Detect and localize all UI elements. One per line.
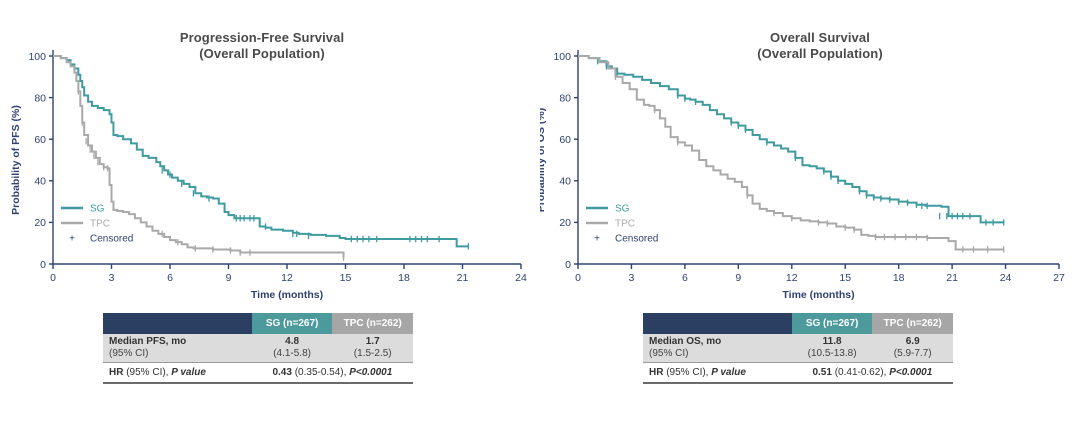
pfs-hr-value-italic: P<0.0001 — [349, 367, 392, 378]
os-median-label-main: Median OS, mo — [649, 336, 786, 348]
pfs-median-label-sub: (95% CI) — [109, 348, 246, 360]
svg-text:27: 27 — [1053, 272, 1065, 284]
os-median-label-sub: (95% CI) — [649, 348, 786, 360]
svg-text:Probability of OS (%): Probability of OS (%) — [540, 108, 547, 212]
os-median-tpc-main: 6.9 — [878, 336, 947, 348]
os-median-tpc: 6.9 (5.9-7.7) — [872, 334, 953, 363]
pfs-median-tpc-ci: (1.5-2.5) — [338, 348, 407, 360]
pfs-header-tpc: TPC (n=262) — [332, 313, 413, 334]
table-header-row: SG (n=267) TPC (n=262) — [103, 313, 413, 334]
pfs-hr-label-bold: HR — [109, 367, 123, 378]
pfs-median-label: Median PFS, mo (95% CI) — [103, 334, 252, 363]
svg-text:9: 9 — [735, 272, 741, 284]
svg-text:TPC: TPC — [615, 219, 635, 230]
svg-text:0: 0 — [565, 259, 571, 271]
svg-text:3: 3 — [109, 272, 115, 284]
svg-text:60: 60 — [34, 134, 46, 146]
pfs-median-label-main: Median PFS, mo — [109, 336, 246, 348]
svg-text:40: 40 — [559, 176, 571, 188]
os-hr-label-bold: HR — [649, 367, 663, 378]
table-header-row: SG (n=267) TPC (n=262) — [643, 313, 953, 334]
os-hr-value-italic: P<0.0001 — [889, 367, 932, 378]
svg-text:15: 15 — [839, 272, 851, 284]
pfs-plot-area: 02040608010003691215182124Time (months)P… — [0, 0, 540, 300]
svg-text:20: 20 — [34, 217, 46, 229]
svg-text:+: + — [69, 234, 75, 245]
os-hr-value: 0.51 (0.41-0.62), P<0.0001 — [792, 363, 953, 384]
svg-text:6: 6 — [167, 272, 173, 284]
pfs-header-sg: SG (n=267) — [252, 313, 333, 334]
os-hr-value-plain: (0.41-0.62), — [832, 367, 889, 378]
svg-text:18: 18 — [893, 272, 905, 284]
svg-text:24: 24 — [1000, 272, 1012, 284]
pfs-median-sg-ci: (4.1-5.8) — [258, 348, 327, 360]
svg-text:80: 80 — [559, 92, 571, 104]
pfs-hr-value-bold: 0.43 — [272, 367, 291, 378]
svg-text:+: + — [594, 234, 600, 245]
svg-text:6: 6 — [682, 272, 688, 284]
pfs-hr-label: HR (95% CI), P value — [103, 363, 252, 384]
pfs-median-tpc-main: 1.7 — [338, 336, 407, 348]
os-plot-area: 0204060801000369121518212427Time (months… — [540, 0, 1080, 300]
svg-text:24: 24 — [515, 272, 527, 284]
os-hr-label-italic: P value — [711, 367, 746, 378]
svg-text:15: 15 — [340, 272, 352, 284]
pfs-km-plot: 02040608010003691215182124Time (months)P… — [0, 0, 540, 300]
table-row: Median OS, mo (95% CI) 11.8 (10.5-13.8) … — [643, 334, 953, 363]
table-row: Median PFS, mo (95% CI) 4.8 (4.1-5.8) 1.… — [103, 334, 413, 363]
svg-text:100: 100 — [553, 51, 571, 63]
table-row: HR (95% CI), P value 0.43 (0.35-0.54), P… — [103, 363, 413, 384]
pfs-header-blank — [103, 313, 252, 334]
svg-text:SG: SG — [90, 204, 105, 215]
svg-text:21: 21 — [946, 272, 958, 284]
svg-text:12: 12 — [281, 272, 293, 284]
svg-text:Censored: Censored — [90, 234, 133, 245]
svg-text:3: 3 — [629, 272, 635, 284]
svg-text:TPC: TPC — [90, 219, 110, 230]
os-median-tpc-ci: (5.9-7.7) — [878, 348, 947, 360]
os-median-label: Median OS, mo (95% CI) — [643, 334, 792, 363]
os-median-sg-ci: (10.5-13.8) — [798, 348, 867, 360]
os-hr-label: HR (95% CI), P value — [643, 363, 792, 384]
os-stat-table: SG (n=267) TPC (n=262) Median OS, mo (95… — [643, 313, 953, 384]
svg-text:60: 60 — [559, 134, 571, 146]
pfs-hr-value: 0.43 (0.35-0.54), P<0.0001 — [252, 363, 413, 384]
pfs-hr-label-italic: P value — [171, 367, 206, 378]
svg-text:20: 20 — [559, 217, 571, 229]
svg-text:SG: SG — [615, 204, 630, 215]
svg-text:9: 9 — [226, 272, 232, 284]
svg-text:12: 12 — [786, 272, 798, 284]
table-row: HR (95% CI), P value 0.51 (0.41-0.62), P… — [643, 363, 953, 384]
os-header-blank — [643, 313, 792, 334]
os-header-sg: SG (n=267) — [792, 313, 873, 334]
pfs-median-sg-main: 4.8 — [258, 336, 327, 348]
svg-text:Censored: Censored — [615, 234, 658, 245]
svg-text:0: 0 — [575, 272, 581, 284]
pfs-stat-table: SG (n=267) TPC (n=262) Median PFS, mo (9… — [103, 313, 413, 384]
pfs-hr-label-plain: (95% CI), — [123, 367, 171, 378]
svg-text:80: 80 — [34, 92, 46, 104]
svg-text:Time (months): Time (months) — [782, 289, 854, 300]
os-hr-label-plain: (95% CI), — [663, 367, 711, 378]
pfs-hr-value-plain: (0.35-0.54), — [292, 367, 349, 378]
pfs-median-tpc: 1.7 (1.5-2.5) — [332, 334, 413, 363]
os-median-sg: 11.8 (10.5-13.8) — [792, 334, 873, 363]
svg-text:40: 40 — [34, 176, 46, 188]
svg-text:Probability of PFS (%): Probability of PFS (%) — [10, 105, 22, 215]
svg-text:0: 0 — [50, 272, 56, 284]
svg-text:100: 100 — [28, 51, 46, 63]
svg-text:0: 0 — [40, 259, 46, 271]
os-hr-value-bold: 0.51 — [812, 367, 831, 378]
pfs-median-sg: 4.8 (4.1-5.8) — [252, 334, 333, 363]
svg-text:Time (months): Time (months) — [251, 289, 323, 300]
os-median-sg-main: 11.8 — [798, 336, 867, 348]
svg-text:18: 18 — [398, 272, 410, 284]
svg-text:21: 21 — [457, 272, 469, 284]
os-km-plot: 0204060801000369121518212427Time (months… — [540, 0, 1080, 300]
os-header-tpc: TPC (n=262) — [872, 313, 953, 334]
